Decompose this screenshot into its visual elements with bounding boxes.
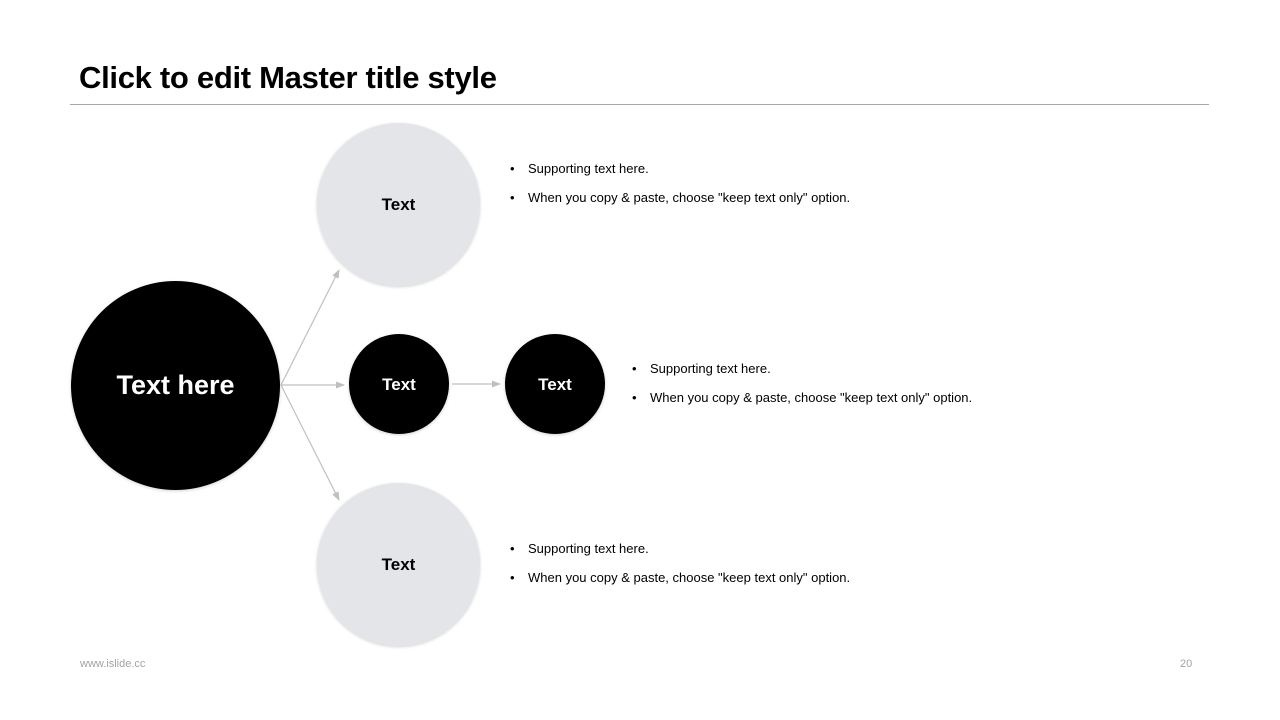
list-item[interactable]: • Supporting text here. bbox=[632, 360, 972, 377]
node-top[interactable]: Text bbox=[317, 123, 480, 286]
connector-main-to-top bbox=[281, 270, 339, 385]
bullet-text: Supporting text here. bbox=[528, 540, 649, 557]
node-bottom-label: Text bbox=[382, 556, 416, 573]
list-item[interactable]: • Supporting text here. bbox=[510, 540, 850, 557]
bullet-group-top[interactable]: • Supporting text here. • When you copy … bbox=[510, 160, 850, 218]
bullet-icon: • bbox=[510, 160, 528, 177]
node-mid-left-label: Text bbox=[382, 376, 416, 393]
bullet-group-middle[interactable]: • Supporting text here. • When you copy … bbox=[632, 360, 972, 418]
list-item[interactable]: • When you copy & paste, choose "keep te… bbox=[510, 189, 850, 206]
node-mid-right-label: Text bbox=[538, 376, 572, 393]
node-bottom[interactable]: Text bbox=[317, 483, 480, 646]
node-mid-left[interactable]: Text bbox=[349, 334, 449, 434]
node-main[interactable]: Text here bbox=[71, 281, 280, 490]
node-top-label: Text bbox=[382, 196, 416, 213]
footer-page-number: 20 bbox=[1180, 658, 1192, 670]
connector-main-to-bottom bbox=[281, 385, 339, 500]
bullet-icon: • bbox=[510, 189, 528, 206]
footer-site-url[interactable]: www.islide.cc bbox=[80, 658, 145, 670]
list-item[interactable]: • When you copy & paste, choose "keep te… bbox=[632, 389, 972, 406]
node-main-label: Text here bbox=[116, 372, 234, 399]
node-mid-right[interactable]: Text bbox=[505, 334, 605, 434]
list-item[interactable]: • Supporting text here. bbox=[510, 160, 850, 177]
bullet-text: Supporting text here. bbox=[528, 160, 649, 177]
bullet-group-bottom[interactable]: • Supporting text here. • When you copy … bbox=[510, 540, 850, 598]
bullet-icon: • bbox=[510, 540, 528, 557]
bullet-text: When you copy & paste, choose "keep text… bbox=[528, 189, 850, 206]
bullet-icon: • bbox=[632, 360, 650, 377]
bullet-icon: • bbox=[510, 569, 528, 586]
bullet-icon: • bbox=[632, 389, 650, 406]
bullet-text: Supporting text here. bbox=[650, 360, 771, 377]
bullet-text: When you copy & paste, choose "keep text… bbox=[528, 569, 850, 586]
bullet-text: When you copy & paste, choose "keep text… bbox=[650, 389, 972, 406]
list-item[interactable]: • When you copy & paste, choose "keep te… bbox=[510, 569, 850, 586]
